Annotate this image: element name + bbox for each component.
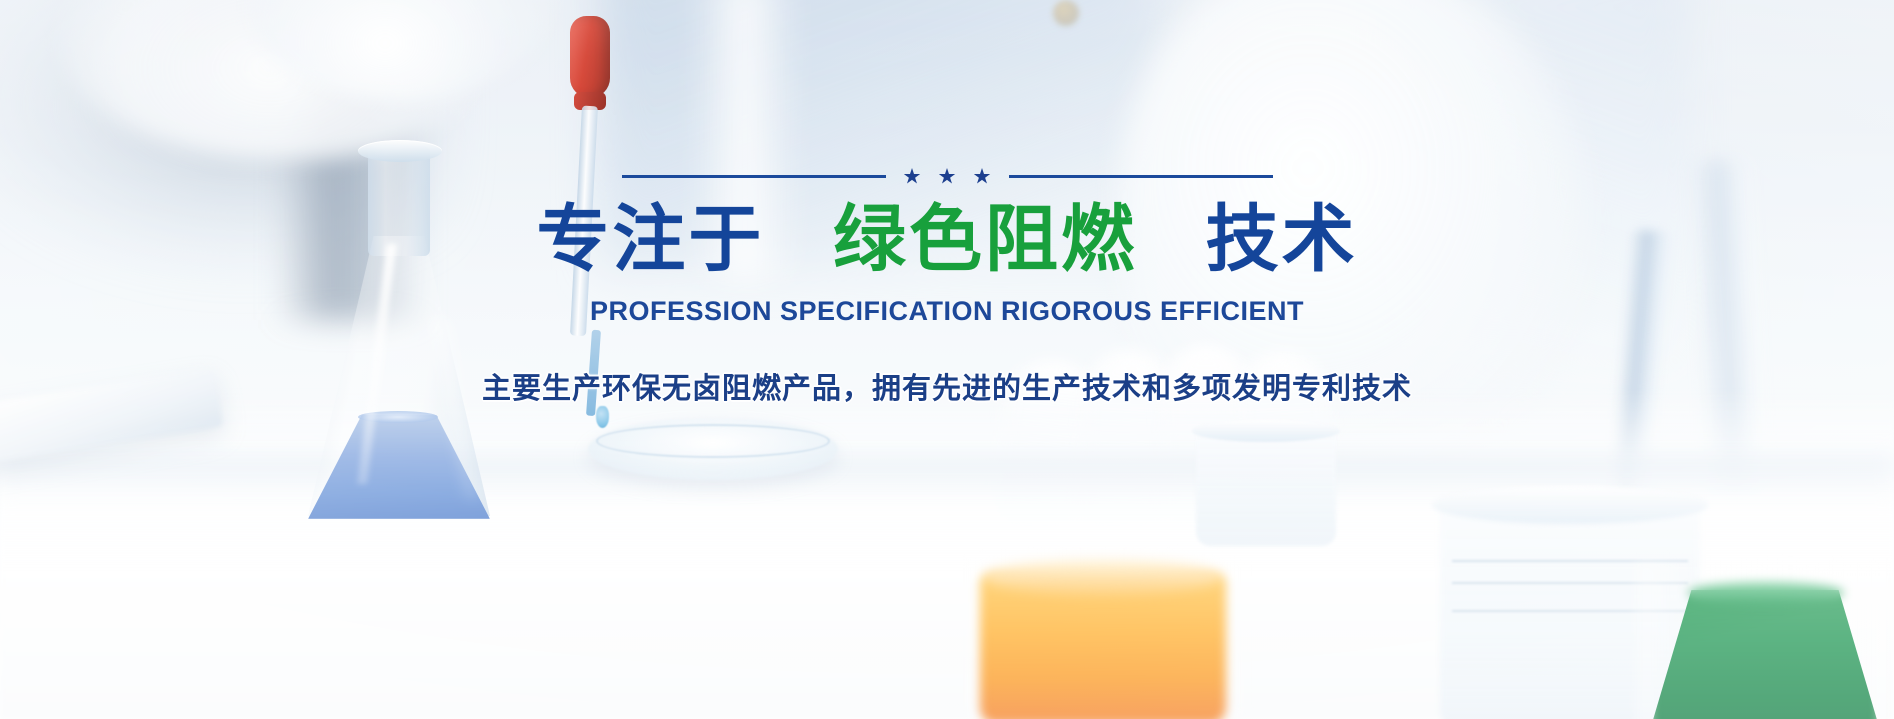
subtitle-chinese: 主要生产环保无卤阻燃产品，拥有先进的生产技术和多项发明专利技术: [482, 365, 1412, 407]
headline-part-2: 绿色阻燃: [833, 199, 1137, 280]
divider-with-stars: [622, 168, 1273, 185]
star-icon: [904, 168, 921, 185]
headline-part-1: 专注于: [536, 199, 764, 280]
banner-content: 专注于 绿色阻燃 技术 PROFESSION SPECIFICATION RIG…: [0, 0, 1894, 719]
hero-banner: 专注于 绿色阻燃 技术 PROFESSION SPECIFICATION RIG…: [0, 0, 1894, 719]
divider-line-right: [1009, 175, 1273, 178]
star-group: [904, 168, 991, 185]
subtitle-english: PROFESSION SPECIFICATION RIGOROUS EFFICI…: [590, 296, 1304, 327]
headline-part-3: 技术: [1206, 199, 1358, 280]
star-icon: [939, 168, 956, 185]
star-icon: [974, 168, 991, 185]
headline: 专注于 绿色阻燃 技术: [536, 201, 1357, 280]
divider-line-left: [622, 175, 886, 178]
